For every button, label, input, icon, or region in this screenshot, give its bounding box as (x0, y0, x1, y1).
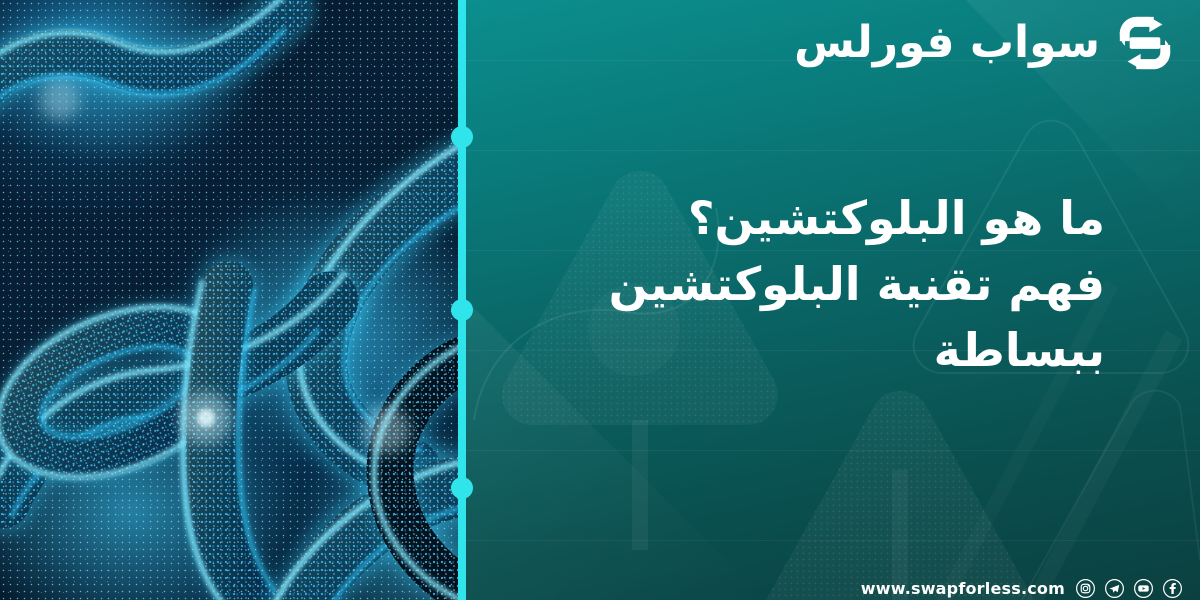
instagram-icon[interactable] (1076, 579, 1095, 598)
chain-illustration (0, 0, 462, 600)
facebook-icon[interactable] (1163, 579, 1182, 598)
brand-name: سواب فورلس (794, 21, 1100, 65)
divider-node-3 (451, 477, 473, 499)
youtube-icon[interactable] (1134, 579, 1153, 598)
telegram-icon[interactable] (1105, 579, 1124, 598)
brand-logo[interactable]: سواب فورلس (794, 12, 1176, 74)
swap-arrows-s-icon (1114, 12, 1176, 74)
banner: سواب فورلس ما هو البلوكتشين؟ فهم تقنية ا… (0, 0, 1200, 600)
footer-bar: www.swapforless.com (861, 579, 1182, 598)
blockchain-chain-photo (0, 0, 462, 600)
website-url[interactable]: www.swapforless.com (861, 579, 1065, 598)
divider-node-1 (451, 126, 473, 148)
headline-line-3: ببساطة (545, 318, 1105, 384)
divider-node-2 (451, 299, 473, 321)
social-links (1076, 579, 1182, 598)
headline-block: ما هو البلوكتشين؟ فهم تقنية البلوكتشين ب… (545, 186, 1105, 383)
headline-line-1: ما هو البلوكتشين؟ (545, 186, 1105, 252)
headline-line-2: فهم تقنية البلوكتشين (545, 252, 1105, 318)
content-panel: سواب فورلس ما هو البلوكتشين؟ فهم تقنية ا… (466, 0, 1200, 600)
